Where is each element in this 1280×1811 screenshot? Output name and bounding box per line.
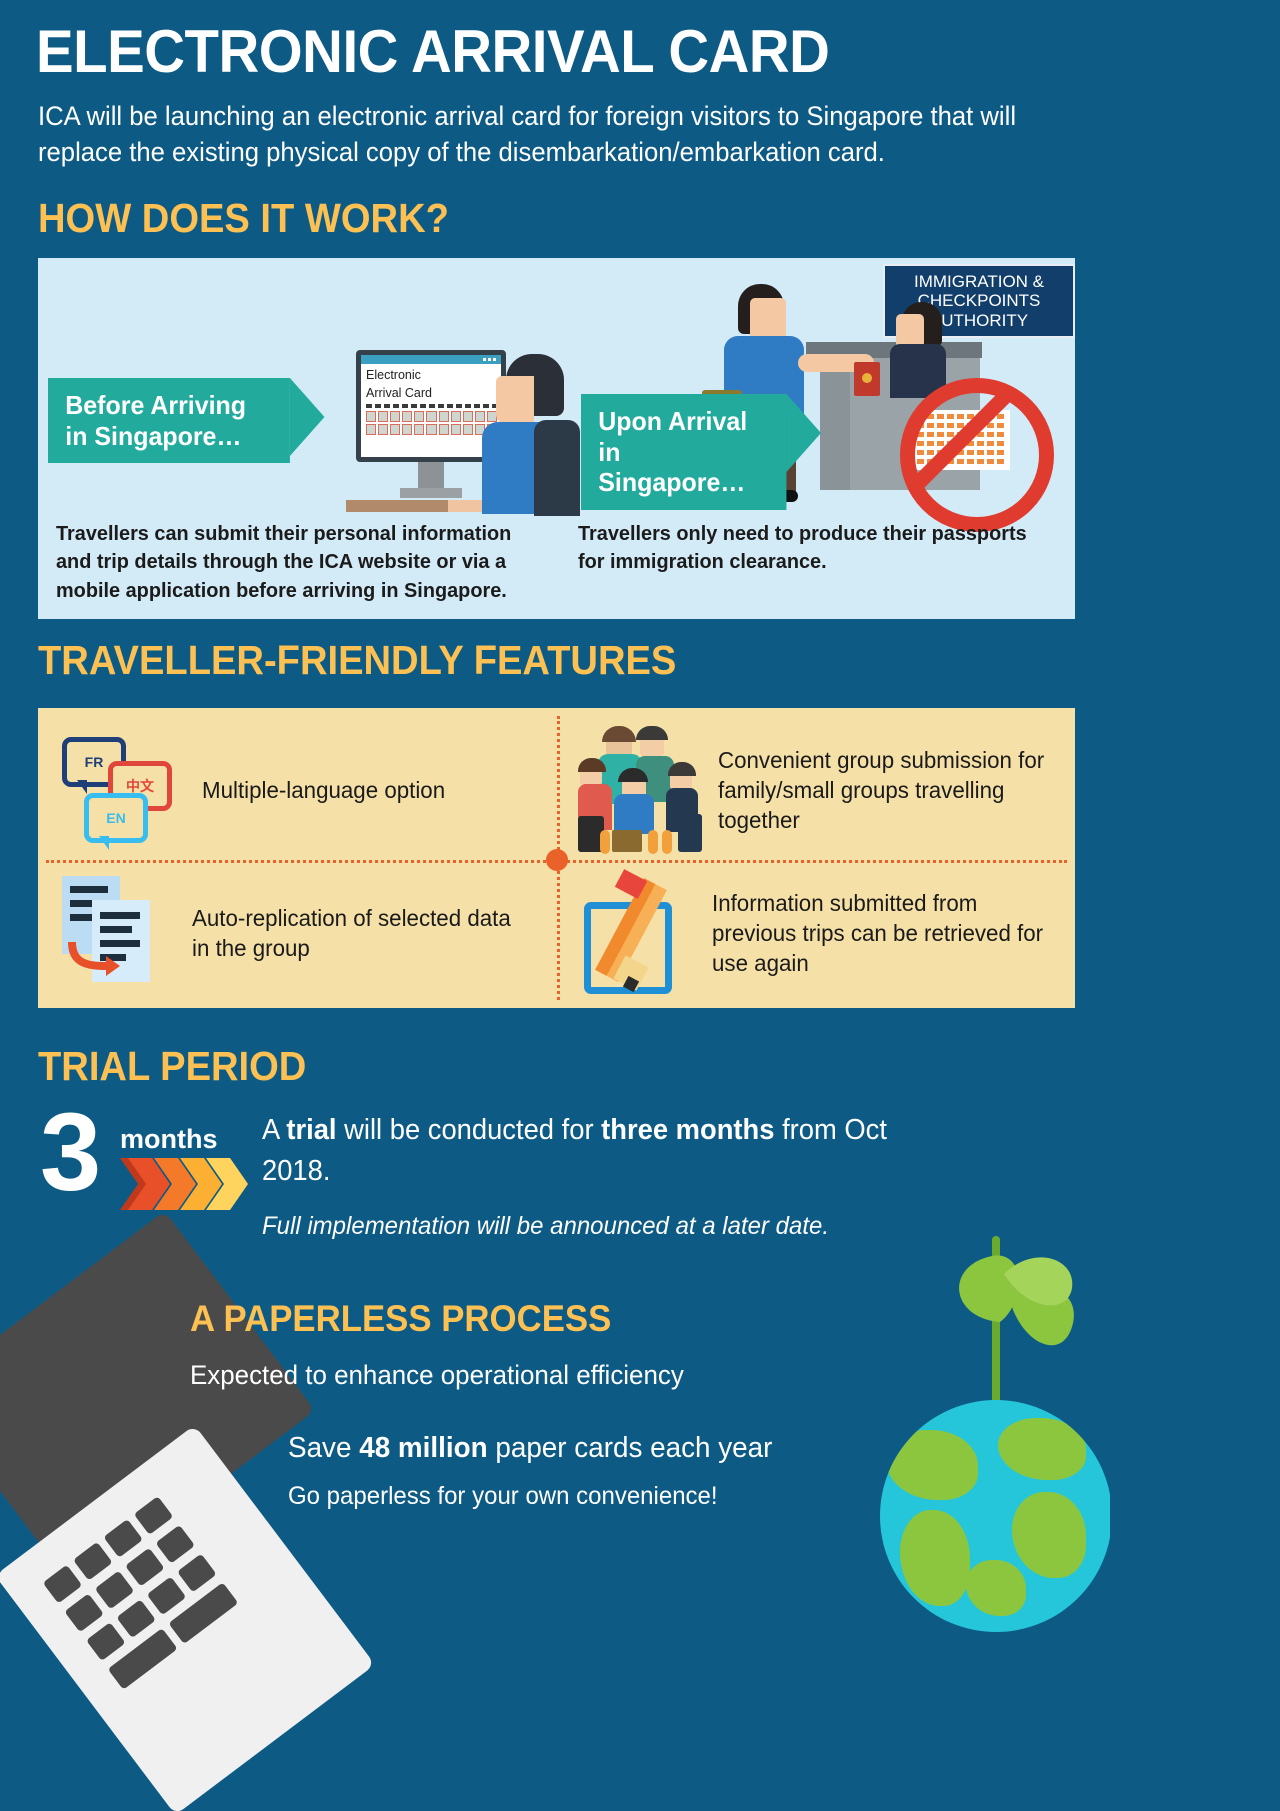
how-it-works-panel: Electronic Arrival Card IMMIGRATION & [38, 258, 1075, 619]
person-chair [534, 420, 580, 516]
feature-label-language: Multiple-language option [202, 776, 445, 806]
globe-illustration [880, 1400, 1110, 1632]
tag2-line1: Upon Arrival [598, 406, 771, 437]
person-face [496, 376, 534, 424]
paperless-closing: Go paperless for your own convenience! [288, 1482, 718, 1511]
chevron-arrows-icon [120, 1158, 252, 1210]
plant-leaves-icon [930, 1222, 1110, 1402]
savings-part1: Save [288, 1432, 359, 1464]
trial-note: Full implementation will be announced at… [262, 1212, 992, 1241]
before-arriving-tag: Before Arriving in Singapore… [48, 378, 290, 463]
form-rows [361, 401, 501, 435]
replication-arrow-icon [66, 936, 120, 976]
page-title: ELECTRONIC ARRIVAL CARD [36, 22, 829, 82]
tag1-line1: Before Arriving [65, 390, 274, 421]
documents-copy-icon [58, 874, 178, 994]
feature-label-auto-replication: Auto-replication of selected data in the… [192, 904, 528, 964]
feature-label-group-submission: Convenient group submission for family/s… [718, 746, 1058, 836]
trial-text-part2: will be conducted for [337, 1114, 602, 1146]
infographic-page: ELECTRONIC ARRIVAL CARD ICA will be laun… [0, 0, 1110, 1811]
screen-title-line2: Arrival Card [361, 382, 501, 400]
feature-item-group-submission: Convenient group submission for family/s… [578, 722, 1068, 860]
language-bubbles-icon: FR 中文 EN [58, 731, 188, 851]
screen-title-line1: Electronic [361, 364, 501, 382]
feature-label-retrieve-info: Information submitted from previous trip… [712, 889, 1057, 979]
section-heading-how-it-works: HOW DOES IT WORK? [38, 198, 449, 239]
family-group-icon [578, 726, 704, 856]
features-panel: FR 中文 EN Multiple-language option [38, 708, 1075, 1008]
language-badge-en: EN [84, 793, 148, 843]
tag2-line2: in Singapore… [598, 437, 771, 498]
ica-sign-line1: IMMIGRATION & [889, 272, 1069, 291]
trial-description: A trial will be conducted for three mont… [262, 1110, 934, 1193]
feature-item-retrieve-info: Information submitted from previous trip… [578, 868, 1068, 1000]
passport-icon [854, 362, 880, 396]
tag1-line2: in Singapore… [65, 421, 274, 452]
trial-unit-label: months [120, 1124, 218, 1155]
intro-paragraph: ICA will be launching an electronic arri… [38, 98, 1017, 171]
section-heading-features: TRAVELLER-FRIENDLY FEATURES [38, 640, 676, 681]
computer-monitor-illustration: Electronic Arrival Card [356, 350, 506, 498]
step1-caption: Travellers can submit their personal inf… [56, 520, 546, 605]
trial-bold-three-months: three months [601, 1114, 774, 1146]
monitor-screen: Electronic Arrival Card [361, 355, 501, 457]
paperless-subtitle: Expected to enhance operational efficien… [190, 1360, 684, 1391]
section-heading-trial: TRIAL PERIOD [38, 1046, 306, 1087]
paperless-savings: Save 48 million paper cards each year [288, 1432, 772, 1465]
feature-item-auto-replication: Auto-replication of selected data in the… [58, 868, 538, 1000]
officer-face [896, 314, 924, 348]
paperless-heading: A PAPERLESS PROCESS [190, 1298, 611, 1340]
upon-arrival-tag: Upon Arrival in Singapore… [581, 394, 786, 510]
trial-text-part1: A [262, 1114, 286, 1146]
pencil-form-icon [578, 876, 698, 992]
trial-bold-trial: trial [286, 1114, 336, 1146]
savings-part2: paper cards each year [488, 1432, 773, 1464]
trial-number: 3 [40, 1098, 101, 1208]
traveller-face [750, 298, 786, 340]
features-center-dot [546, 849, 568, 871]
step2-caption: Travellers only need to produce their pa… [578, 520, 1044, 577]
browser-bar [361, 355, 501, 364]
monitor-base [400, 488, 462, 498]
no-entry-icon [900, 378, 1054, 532]
feature-item-language: FR 中文 EN Multiple-language option [58, 722, 538, 860]
counter-side [820, 358, 850, 490]
savings-bold-amount: 48 million [359, 1432, 487, 1464]
monitor-stand [418, 462, 444, 488]
